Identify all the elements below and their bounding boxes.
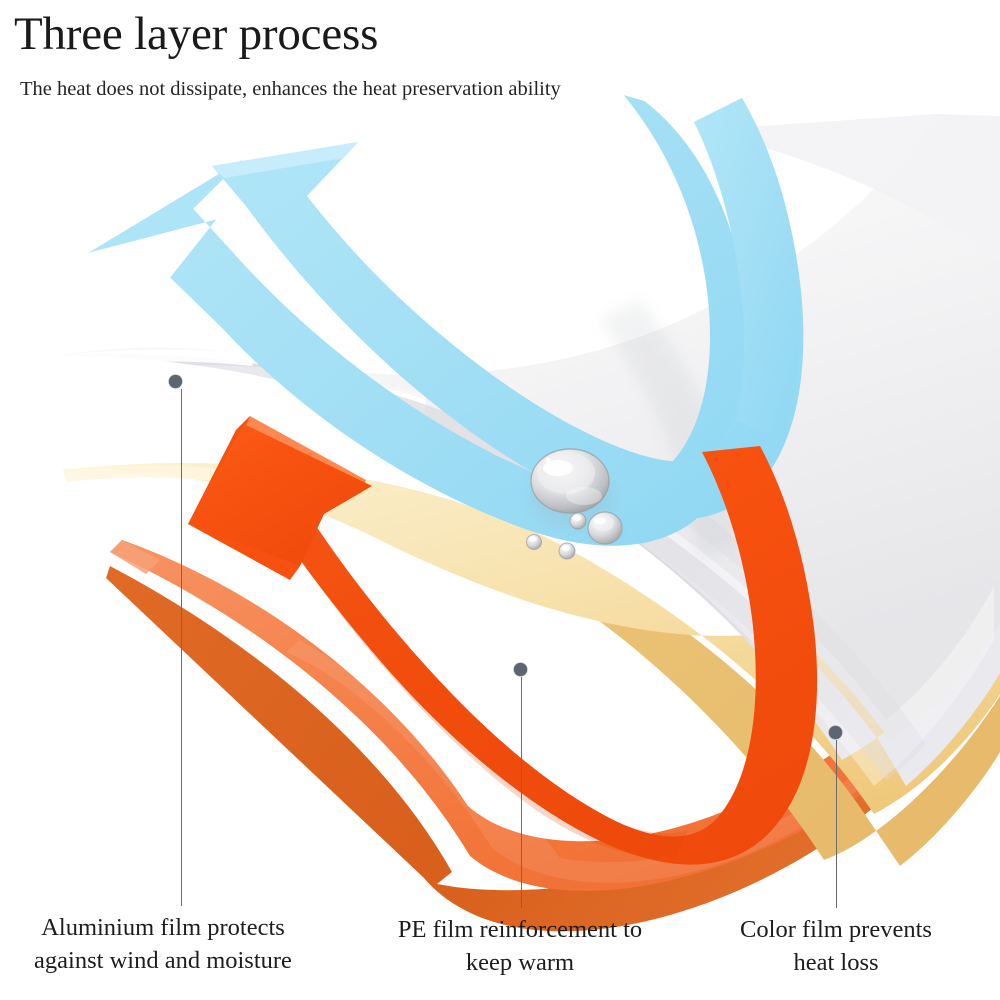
droplet-small-b: [527, 535, 542, 550]
callout-label-pe: PE film reinforcement to keep warm: [370, 914, 670, 979]
droplet-medium: [588, 512, 622, 544]
droplet-large: [531, 449, 609, 513]
callout-dot-aluminium[interactable]: [169, 375, 182, 388]
droplet-small-c: [559, 543, 575, 559]
callout-line-color: [836, 740, 837, 908]
three-layer-illustration: [0, 0, 1000, 1000]
callout-dot-color[interactable]: [829, 726, 842, 739]
callout-dot-pe[interactable]: [514, 663, 527, 676]
callout-label-color: Color film prevents heat loss: [700, 914, 972, 979]
callout-label-aluminium: Aluminium film protects against wind and…: [13, 912, 313, 977]
callout-line-pe: [521, 677, 522, 908]
page-subtitle: The heat does not dissipate, enhances th…: [20, 78, 561, 102]
droplet-small-a: [570, 513, 586, 529]
infographic-canvas: Three layer process The heat does not di…: [0, 0, 1000, 1000]
page-title: Three layer process: [14, 10, 378, 60]
callout-line-aluminium: [181, 389, 182, 906]
